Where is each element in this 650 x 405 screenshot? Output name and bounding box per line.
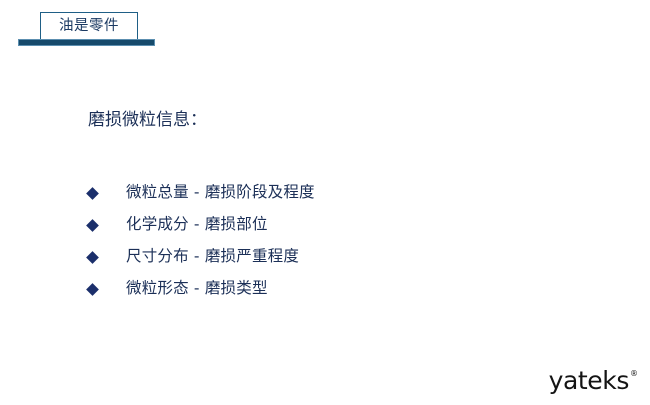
list-item-label: 化学成分 - 磨损部位 bbox=[126, 217, 268, 233]
slide-canvas: 油是零件 磨损微粒信息： 微粒总量 - 磨损阶段及程度 化学成分 - 磨损部位 … bbox=[0, 0, 650, 405]
list-item-label: 微粒总量 - 磨损阶段及程度 bbox=[126, 185, 315, 201]
list-item: 尺寸分布 - 磨损严重程度 bbox=[88, 241, 315, 273]
list-item: 微粒总量 - 磨损阶段及程度 bbox=[88, 177, 315, 209]
diamond-bullet-icon bbox=[86, 251, 99, 264]
slide-title-underline-bar bbox=[18, 39, 155, 46]
list-item-label: 微粒形态 - 磨损类型 bbox=[126, 281, 268, 297]
list-item: 微粒形态 - 磨损类型 bbox=[88, 273, 315, 305]
brand-logo-wordmark: yateks bbox=[549, 368, 629, 393]
diamond-bullet-icon bbox=[86, 219, 99, 232]
slide-title-block: 油是零件 bbox=[18, 12, 158, 50]
list-item: 化学成分 - 磨损部位 bbox=[88, 209, 315, 241]
brand-logo: yateks ® bbox=[549, 368, 638, 393]
diamond-bullet-icon bbox=[86, 283, 99, 296]
body-heading: 磨损微粒信息： bbox=[88, 110, 207, 130]
slide-title-text: 油是零件 bbox=[59, 19, 119, 34]
bullet-list: 微粒总量 - 磨损阶段及程度 化学成分 - 磨损部位 尺寸分布 - 磨损严重程度… bbox=[88, 177, 315, 305]
registered-trademark-icon: ® bbox=[630, 370, 638, 378]
slide-title-box: 油是零件 bbox=[40, 12, 138, 40]
list-item-label: 尺寸分布 - 磨损严重程度 bbox=[126, 249, 299, 265]
diamond-bullet-icon bbox=[86, 187, 99, 200]
